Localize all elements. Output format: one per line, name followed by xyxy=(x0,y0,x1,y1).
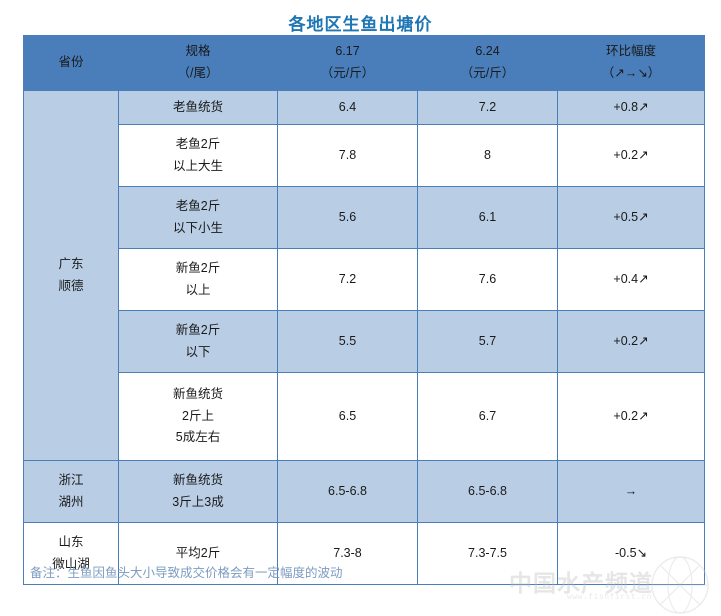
table-row: 新鱼2斤以上7.27.6+0.4↗ xyxy=(24,249,705,311)
cell-price-617: 6.4 xyxy=(278,91,418,125)
table-row: 浙江湖州新鱼统货3斤上3成6.5-6.86.5-6.8→ xyxy=(24,461,705,523)
cell-price-624: 7.6 xyxy=(418,249,558,311)
cell-change: +0.5↗ xyxy=(558,187,705,249)
province-lines: 广东顺德 xyxy=(24,254,118,298)
column-header-spec-line2: （/尾） xyxy=(119,63,277,85)
spec-lines: 老鱼2斤以上大生 xyxy=(119,134,277,178)
cell-price-624: 5.7 xyxy=(418,311,558,373)
fish-price-table: 省份 规格 （/尾） 6.17 （元/斤） 6.24 （元/斤） 环比幅度 （↗… xyxy=(23,35,705,585)
cell-spec: 老鱼2斤以下小生 xyxy=(119,187,278,249)
spec-line: 2斤上 xyxy=(119,406,277,428)
table-header: 省份 规格 （/尾） 6.17 （元/斤） 6.24 （元/斤） 环比幅度 （↗… xyxy=(24,36,705,91)
table-body: 广东顺德老鱼统货6.47.2+0.8↗老鱼2斤以上大生7.88+0.2↗老鱼2斤… xyxy=(24,91,705,585)
column-header-spec-line1: 规格 xyxy=(119,41,277,63)
cell-price-617: 5.5 xyxy=(278,311,418,373)
column-header-change-legend: （↗→↘） xyxy=(558,63,704,85)
cell-change: +0.2↗ xyxy=(558,311,705,373)
cell-price-624: 6.7 xyxy=(418,373,558,461)
cell-price-624: 6.5-6.8 xyxy=(418,461,558,523)
column-header-spec: 规格 （/尾） xyxy=(119,36,278,91)
province-line: 浙江 xyxy=(24,470,118,492)
province-line: 湖州 xyxy=(24,492,118,514)
table-row: 广东顺德老鱼统货6.47.2+0.8↗ xyxy=(24,91,705,125)
province-line: 顺德 xyxy=(24,276,118,298)
spec-line: 5成左右 xyxy=(119,427,277,449)
province-lines: 浙江湖州 xyxy=(24,470,118,514)
cell-price-617: 7.2 xyxy=(278,249,418,311)
spec-lines: 新鱼2斤以下 xyxy=(119,320,277,364)
cell-change: +0.2↗ xyxy=(558,373,705,461)
cell-price-624: 6.1 xyxy=(418,187,558,249)
cell-change: +0.8↗ xyxy=(558,91,705,125)
spec-line: 老鱼2斤 xyxy=(119,134,277,156)
column-header-price-617-unit: （元/斤） xyxy=(278,63,417,85)
province-line: 广东 xyxy=(24,254,118,276)
spec-line: 新鱼2斤 xyxy=(119,258,277,280)
column-header-price-624-date: 6.24 xyxy=(418,41,557,63)
province-line: 山东 xyxy=(24,532,118,554)
cell-price-617: 6.5 xyxy=(278,373,418,461)
cell-spec: 新鱼2斤以上 xyxy=(119,249,278,311)
table-header-row: 省份 规格 （/尾） 6.17 （元/斤） 6.24 （元/斤） 环比幅度 （↗… xyxy=(24,36,705,91)
table-row: 新鱼统货2斤上5成左右6.56.7+0.2↗ xyxy=(24,373,705,461)
spec-line: 以下 xyxy=(119,342,277,364)
page-title: 各地区生鱼出塘价 xyxy=(0,10,721,35)
watermark-url: www.fishfirst.cn xyxy=(567,592,652,601)
spec-line: 以上 xyxy=(119,280,277,302)
cell-change: → xyxy=(558,461,705,523)
spec-line: 老鱼统货 xyxy=(119,97,277,119)
cell-spec: 新鱼统货2斤上5成左右 xyxy=(119,373,278,461)
column-header-price-624-unit: （元/斤） xyxy=(418,63,557,85)
column-header-change: 环比幅度 （↗→↘） xyxy=(558,36,705,91)
spec-line: 以下小生 xyxy=(119,218,277,240)
cell-price-624: 7.3-7.5 xyxy=(418,523,558,585)
cell-price-617: 7.8 xyxy=(278,125,418,187)
spec-lines: 新鱼2斤以上 xyxy=(119,258,277,302)
spec-line: 新鱼统货 xyxy=(119,470,277,492)
price-table-page: 各地区生鱼出塘价 省份 规格 （/尾） 6.17 （元/斤） 6.24 （元/斤… xyxy=(0,0,721,612)
column-header-price-617-date: 6.17 xyxy=(278,41,417,63)
cell-province: 浙江湖州 xyxy=(24,461,119,523)
cell-price-624: 8 xyxy=(418,125,558,187)
cell-spec: 老鱼统货 xyxy=(119,91,278,125)
cell-change: -0.5↘ xyxy=(558,523,705,585)
table-row: 新鱼2斤以下5.55.7+0.2↗ xyxy=(24,311,705,373)
cell-change: +0.2↗ xyxy=(558,125,705,187)
column-header-province: 省份 xyxy=(24,36,119,91)
spec-lines: 新鱼统货3斤上3成 xyxy=(119,470,277,514)
spec-lines: 老鱼统货 xyxy=(119,97,277,119)
spec-line: 新鱼统货 xyxy=(119,384,277,406)
spec-line: 新鱼2斤 xyxy=(119,320,277,342)
column-header-price-624: 6.24 （元/斤） xyxy=(418,36,558,91)
cell-spec: 老鱼2斤以上大生 xyxy=(119,125,278,187)
spec-line: 老鱼2斤 xyxy=(119,196,277,218)
spec-line: 以上大生 xyxy=(119,156,277,178)
cell-spec: 新鱼2斤以下 xyxy=(119,311,278,373)
cell-price-617: 5.6 xyxy=(278,187,418,249)
cell-spec: 新鱼统货3斤上3成 xyxy=(119,461,278,523)
footnote: 备注：生鱼因鱼头大小导致成交价格会有一定幅度的波动 xyxy=(30,562,343,581)
table-row: 老鱼2斤以下小生5.66.1+0.5↗ xyxy=(24,187,705,249)
spec-lines: 新鱼统货2斤上5成左右 xyxy=(119,384,277,450)
spec-line: 3斤上3成 xyxy=(119,492,277,514)
column-header-province-line1: 省份 xyxy=(24,52,118,74)
table-row: 老鱼2斤以上大生7.88+0.2↗ xyxy=(24,125,705,187)
cell-price-624: 7.2 xyxy=(418,91,558,125)
cell-province: 广东顺德 xyxy=(24,91,119,461)
cell-change: +0.4↗ xyxy=(558,249,705,311)
cell-price-617: 6.5-6.8 xyxy=(278,461,418,523)
column-header-price-617: 6.17 （元/斤） xyxy=(278,36,418,91)
column-header-change-label: 环比幅度 xyxy=(558,41,704,63)
spec-lines: 老鱼2斤以下小生 xyxy=(119,196,277,240)
